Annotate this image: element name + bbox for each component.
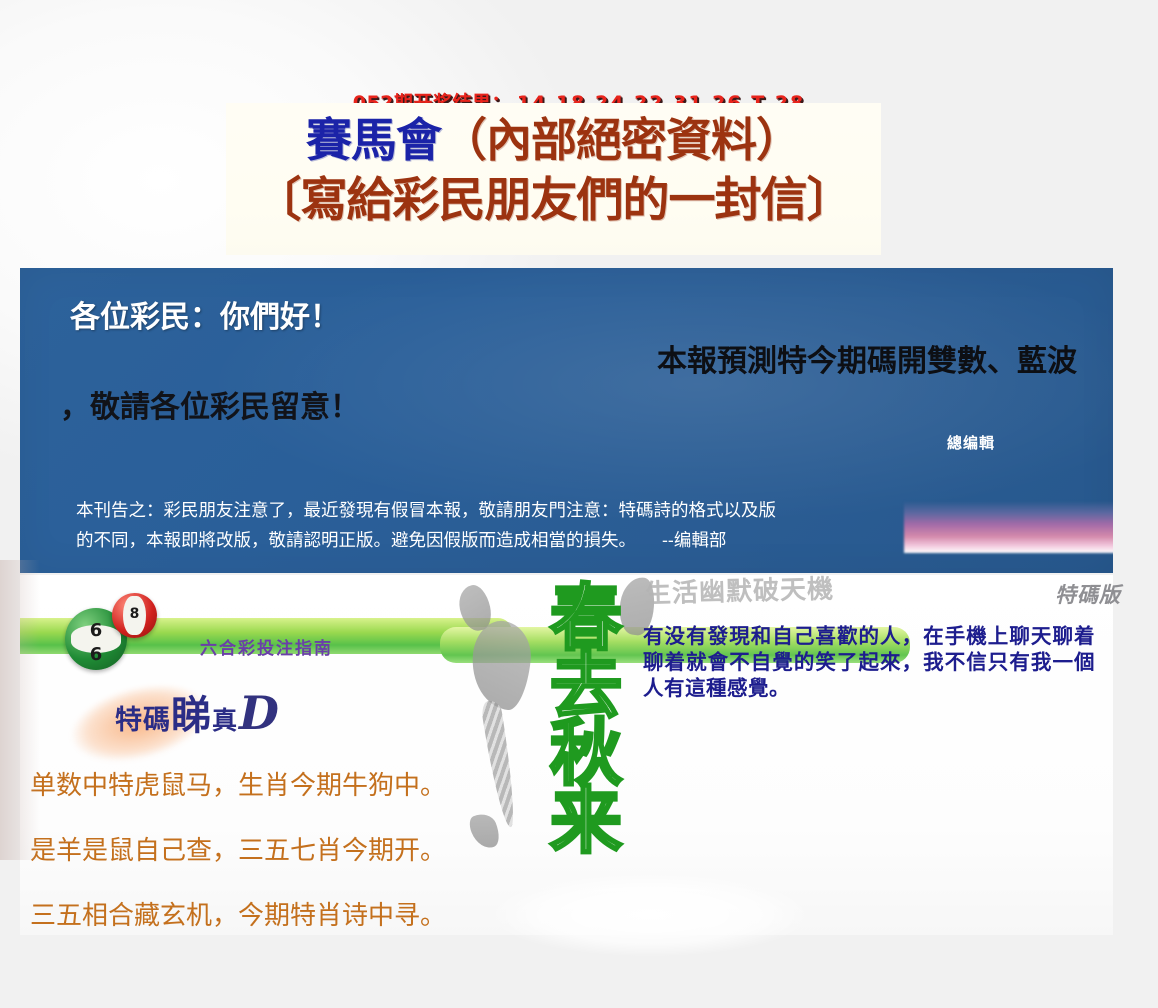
page-background: 052期开奖结果：14 18 24 22 31 26 T 28 賽馬會（內部絕密… <box>0 0 1158 1008</box>
letter-footer-attribution: --编輯部 <box>662 531 726 551</box>
letter-notice: ，敬請各位彩民留意！ <box>60 382 360 426</box>
slogan-char-3: 秋 <box>543 720 629 788</box>
letter-forecast: 本報預測特今期碼開雙數、藍波 <box>42 336 1113 380</box>
ball-red-number: 8 <box>112 606 157 622</box>
letter-greeting: 各位彩民：你們好！ <box>70 292 340 336</box>
masthead-subtitle: （內部絕密資料） <box>441 113 801 167</box>
seasonal-slogan: 春 去 秋 来 <box>543 585 629 856</box>
lower-content-sheet: 六合彩投注指南 6 6 8 特碼睇真D 单数中特虎鼠马，生肖今期牛狗中。 是羊是… <box>20 575 1113 935</box>
poem-line-1: 单数中特虎鼠马，生肖今期牛狗中。 <box>30 765 500 802</box>
logo-part-2: 睇 <box>171 692 212 739</box>
logo-part-1: 特碼 <box>115 705 171 736</box>
masthead-line-2: 〔寫給彩民朋友們的一封信〕 <box>226 177 881 224</box>
slogan-char-4: 来 <box>543 788 629 856</box>
edition-stamp: 特碼版 <box>1055 579 1121 609</box>
letter-signature: 總编輯 <box>947 432 995 453</box>
letter-panel: 各位彩民：你們好！ 本報預測特今期碼開雙數、藍波 ，敬請各位彩民留意！ 總编輯 … <box>20 268 1113 573</box>
special-code-logo: 特碼睇真D <box>115 683 279 741</box>
gradient-blot <box>904 501 1113 553</box>
humour-watermark-title: 生活幽默破天機 <box>645 575 835 610</box>
poem-line-2: 是羊是鼠自己查，三五七肖今期开。 <box>30 830 500 867</box>
letter-footer-line-2-text: 的不同，本報即將改版，敬請認明正版。避免因假版而造成相當的損失。 <box>76 531 636 551</box>
poem-line-3: 三五相合藏玄机，今期特肖诗中寻。 <box>30 895 500 932</box>
masthead-line-1: 賽馬會（內部絕密資料） <box>226 117 881 163</box>
lottery-ball-red-icon: 8 <box>112 593 157 638</box>
masthead-org-name: 賽馬會 <box>306 113 441 167</box>
ball-green-bottom-number: 6 <box>65 644 127 665</box>
betting-guide-label: 六合彩投注指南 <box>200 634 500 659</box>
slogan-char-2: 去 <box>543 653 629 721</box>
humour-paragraph: 有没有發現和自己喜歡的人，在手機上聊天聊着聊着就會不自覺的笑了起來，我不信只有我… <box>643 623 1095 701</box>
slogan-char-1: 春 <box>543 585 629 653</box>
logo-part-3: 真 <box>212 706 237 735</box>
figure-silhouette-leg <box>480 699 520 829</box>
masthead-card: 賽馬會（內部絕密資料） 〔寫給彩民朋友們的一封信〕 <box>226 103 881 255</box>
logo-part-4: D <box>239 686 279 740</box>
